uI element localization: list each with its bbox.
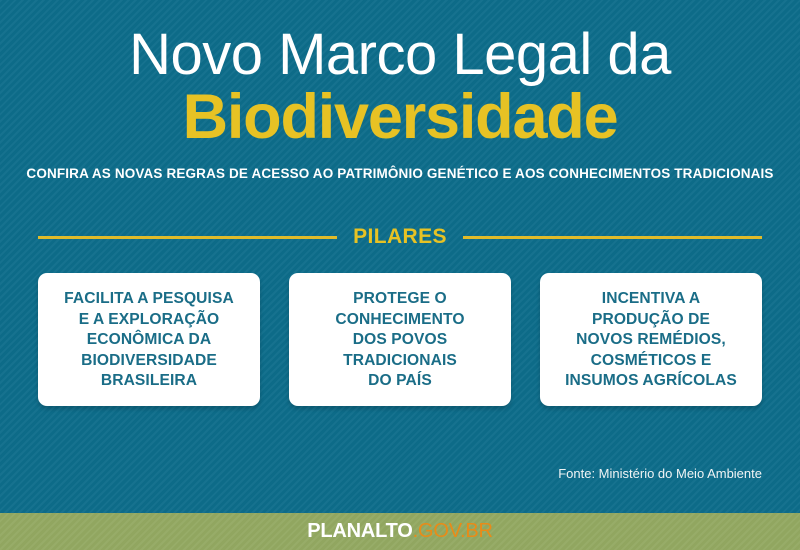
pillar-card-line: PROTEGE O (335, 289, 464, 310)
pillar-card-line: INSUMOS AGRÍCOLAS (565, 371, 737, 392)
pillar-card: INCENTIVA A PRODUÇÃO DE NOVOS REMÉDIOS, … (540, 273, 762, 406)
source-attribution: Fonte: Ministério do Meio Ambiente (558, 466, 762, 481)
pillar-card-line: ECONÔMICA DA (64, 330, 234, 351)
pillar-card-line: INCENTIVA A (565, 289, 737, 310)
divider-line-right (463, 236, 762, 239)
planalto-brand-logo: PLANALTO.GOV.BR (307, 520, 493, 543)
pillar-card-line: BRASILEIRA (64, 371, 234, 392)
pillar-card-line: PRODUÇÃO DE (565, 310, 737, 331)
brand-name-primary: PLANALTO (307, 520, 412, 542)
footer-bar: PLANALTO.GOV.BR (0, 513, 800, 550)
pillar-card-text: INCENTIVA A PRODUÇÃO DE NOVOS REMÉDIOS, … (565, 289, 737, 392)
pillar-card-line: DOS POVOS (335, 330, 464, 351)
pilares-heading: PILARES (337, 225, 463, 249)
pillar-card-line: CONHECIMENTO (335, 310, 464, 331)
pillar-card-line: COSMÉTICOS E (565, 351, 737, 372)
pillar-card-line: DO PAÍS (335, 371, 464, 392)
pillar-card-text: FACILITA A PESQUISA E A EXPLORAÇÃO ECONÔ… (64, 289, 234, 392)
page-title-line-1: Novo Marco Legal da (0, 24, 800, 86)
pilares-section-header: PILARES (38, 181, 762, 249)
brand-name-domain: .GOV.BR (413, 520, 493, 542)
pillar-card-text: PROTEGE O CONHECIMENTO DOS POVOS TRADICI… (335, 289, 464, 392)
pilares-card-list: FACILITA A PESQUISA E A EXPLORAÇÃO ECONÔ… (38, 249, 762, 406)
pillar-card: FACILITA A PESQUISA E A EXPLORAÇÃO ECONÔ… (38, 273, 260, 406)
pillar-card-line: BIODIVERSIDADE (64, 351, 234, 372)
pillar-card-line: E A EXPLORAÇÃO (64, 310, 234, 331)
pillar-card-line: FACILITA A PESQUISA (64, 289, 234, 310)
infographic-canvas: Novo Marco Legal da Biodiversidade CONFI… (0, 0, 800, 550)
pillar-card-line: NOVOS REMÉDIOS, (565, 330, 737, 351)
page-subtitle: CONFIRA AS NOVAS REGRAS DE ACESSO AO PAT… (0, 166, 800, 181)
pillar-card-line: TRADICIONAIS (335, 351, 464, 372)
header-block: Novo Marco Legal da Biodiversidade CONFI… (0, 0, 800, 181)
page-title-line-2: Biodiversidade (0, 84, 800, 150)
divider-line-left (38, 236, 337, 239)
pillar-card: PROTEGE O CONHECIMENTO DOS POVOS TRADICI… (289, 273, 511, 406)
